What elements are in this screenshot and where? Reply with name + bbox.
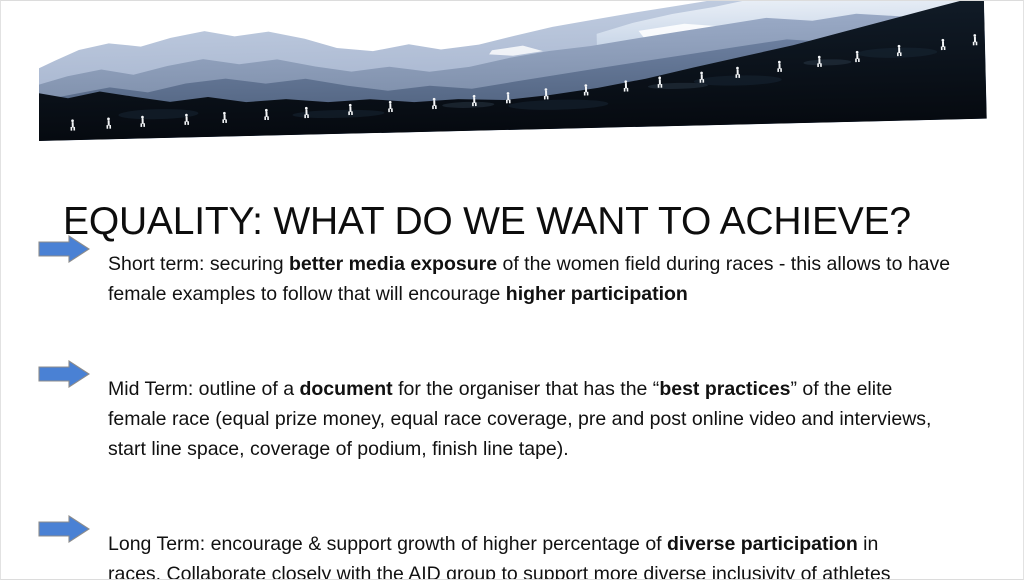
bullet-emphasis: diverse participation — [667, 533, 858, 555]
bullet-text-long-term: Long Term: encourage & support growth of… — [108, 529, 989, 580]
bullet-span: Mid Term: outline of a — [108, 378, 299, 400]
bullet-span: Long Term: encourage & support growth of… — [108, 533, 667, 555]
bullet-text-mid-term: Mid Term: outline of a document for the … — [108, 374, 989, 464]
bullet-text-short-term: Short term: securing better media exposu… — [108, 249, 989, 309]
bullet-emphasis: document — [299, 378, 392, 400]
list-item: Mid Term: outline of a document for the … — [37, 354, 989, 483]
list-item: Short term: securing better media exposu… — [37, 229, 989, 328]
right-arrow-icon — [37, 354, 108, 389]
right-arrow-icon — [37, 509, 108, 544]
bullet-emphasis: best practices — [659, 378, 790, 400]
hero-image-rotation-wrapper — [39, 0, 987, 141]
right-arrow-icon — [37, 229, 108, 264]
bullet-span: for the organiser that has the “ — [393, 378, 660, 400]
bullet-span: Short term: securing — [108, 253, 289, 275]
hero-image-container — [39, 0, 987, 141]
bullet-emphasis: better media exposure — [289, 253, 497, 275]
bullet-list: Short term: securing better media exposu… — [37, 229, 989, 580]
list-item: Long Term: encourage & support growth of… — [37, 509, 989, 580]
bullet-emphasis: higher participation — [506, 283, 688, 305]
presentation-slide: EQUALITY: WHAT DO WE WANT TO ACHIEVE? Sh… — [0, 0, 1024, 580]
mountain-range-with-runners-photo — [39, 0, 987, 141]
